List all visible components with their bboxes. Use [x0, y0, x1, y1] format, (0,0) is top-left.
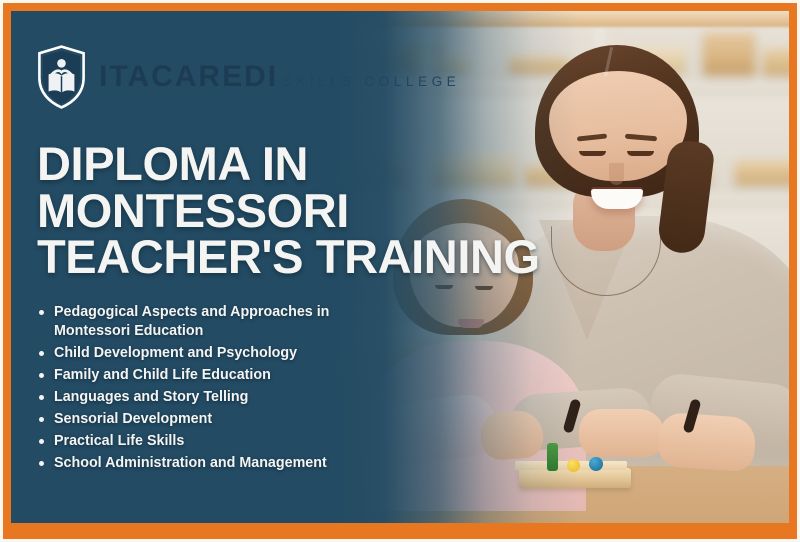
poster-canvas: ITACAREDI SKILLS COLLEGE DIPLOMA IN MONT… — [11, 11, 789, 523]
list-item: Family and Child Life Education — [37, 366, 397, 385]
headline-line-1: DIPLOMA IN — [37, 141, 577, 188]
brand-name: ITACAREDI — [99, 60, 278, 93]
list-item: Sensorial Development — [37, 410, 397, 429]
headline-line-3: TEACHER'S TRAINING — [37, 234, 577, 281]
list-item: Practical Life Skills — [37, 432, 397, 451]
page-title: DIPLOMA IN MONTESSORI TEACHER'S TRAINING — [37, 141, 577, 281]
headline-line-2: MONTESSORI — [37, 188, 577, 235]
shield-book-icon — [37, 45, 86, 109]
list-item: Pedagogical Aspects and Approaches in Mo… — [37, 303, 397, 341]
poster: ITACAREDI SKILLS COLLEGE DIPLOMA IN MONT… — [0, 0, 800, 542]
list-item: Languages and Story Telling — [37, 388, 397, 407]
brand-subtitle: SKILLS COLLEGE — [283, 74, 461, 89]
brand-logo: ITACAREDI SKILLS COLLEGE — [37, 45, 789, 109]
list-item: School Administration and Management — [37, 454, 397, 473]
brand-text: ITACAREDI SKILLS COLLEGE — [99, 62, 460, 92]
list-item: Child Development and Psychology — [37, 344, 397, 363]
course-module-list: Pedagogical Aspects and Approaches in Mo… — [37, 303, 397, 473]
poster-content: ITACAREDI SKILLS COLLEGE DIPLOMA IN MONT… — [11, 11, 789, 523]
